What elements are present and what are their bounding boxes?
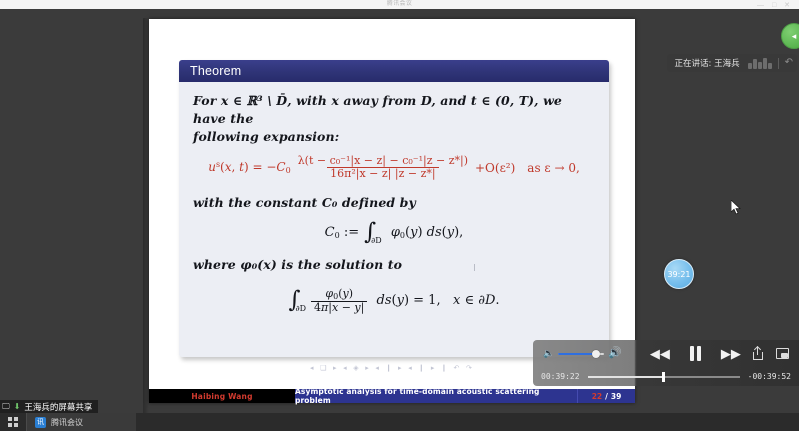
monitor-icon: 🖵 — [2, 403, 10, 411]
tencent-meeting-icon: 讯 — [35, 417, 46, 428]
constant-equation: C0 := ∫∂D φ0(y) ds(y), — [193, 224, 595, 241]
main-equation: us(x, t) = −C0 λ(t − c₀⁻¹|x − z| − c₀⁻¹|… — [193, 155, 595, 180]
integral-symbol-1: ∫∂D — [364, 224, 382, 241]
constant-line: with the constant C₀ defined by — [193, 194, 595, 212]
audio-level-icon — [748, 58, 772, 69]
window-top-strip: 腾讯会议 — □ ✕ — [0, 0, 799, 9]
pill-divider — [778, 58, 779, 69]
footer-page-separator: / — [605, 392, 608, 401]
fraction-denominator: 16π²|x − z| |z − z*| — [327, 167, 438, 180]
mouse-cursor — [731, 200, 742, 215]
player-elapsed-time: 00:39:22 — [541, 372, 580, 381]
window-title-faint: 腾讯会议 — [387, 0, 413, 9]
stray-mark — [474, 264, 475, 271]
fraction-numerator: λ(t − c₀⁻¹|x − z| − c₀⁻¹|z − z*|) — [295, 155, 471, 167]
active-speaker-label: 正在讲话: 王海兵 — [675, 57, 740, 69]
player-scrubber-handle[interactable] — [662, 372, 665, 382]
main-equation-tail: as ε → 0, — [527, 161, 579, 175]
theorem-body: For x ∈ ℝ³ \ D̄, with x away from D, and… — [179, 82, 609, 357]
integral-symbol-2: ∫∂D — [288, 292, 306, 309]
main-equation-lhs: us(x, t) = −C0 — [208, 160, 290, 175]
window-controls[interactable]: — □ ✕ — [757, 1, 793, 9]
theorem-header: Theorem — [179, 60, 609, 82]
pause-icon[interactable] — [690, 346, 701, 361]
volume-slider[interactable] — [558, 353, 604, 355]
final-equation: ∫∂D φ0(y) 4π|x − y| ds(y) = 1, x ∈ ∂D. — [193, 288, 595, 315]
footer-page-indicator: 22 / 39 — [577, 389, 635, 403]
volume-low-icon[interactable]: 🔈 — [543, 349, 554, 358]
volume-high-icon[interactable]: 🔊 — [608, 348, 622, 359]
final-fraction-numerator: φ0(y) — [322, 288, 356, 302]
volume-control[interactable]: 🔈 🔊 — [543, 348, 622, 359]
media-player-controls[interactable]: 🔈 🔊 ◀◀ ▶▶ — [533, 340, 799, 386]
player-top-row: 🔈 🔊 ◀◀ ▶▶ — [533, 340, 799, 367]
player-bottom-row: 00:39:22 -00:39:52 — [533, 367, 799, 386]
where-line: where φ₀(x) is the solution to — [193, 256, 595, 274]
active-speaker-pill[interactable]: 正在讲话: 王海兵 ↶ — [667, 54, 797, 72]
collapse-arrow-icon[interactable]: ↶ — [785, 58, 793, 68]
meeting-timer-value: 39:21 — [667, 270, 690, 279]
taskbar-item-tencent-meeting[interactable]: 讯 腾讯会议 — [26, 413, 136, 431]
taskbar: 讯 腾讯会议 — [0, 413, 799, 431]
main-equation-fraction: λ(t − c₀⁻¹|x − z| − c₀⁻¹|z − z*|) 16π²|x… — [295, 155, 471, 180]
footer-page-total: 39 — [611, 392, 621, 401]
player-remaining-time: -00:39:52 — [748, 372, 791, 381]
rewind-icon[interactable]: ◀◀ — [650, 347, 670, 360]
theorem-intro-line-1: For x ∈ ℝ³ \ D̄, with x away from D, and… — [193, 92, 595, 128]
avatar-initial: ◂ — [792, 31, 797, 42]
final-fraction-denominator: 4π|x − y| — [311, 301, 367, 314]
slide-footer: Haibing Wang Asymptotic analysis for tim… — [149, 389, 635, 403]
footer-title: Asymptotic analysis for time-domain acou… — [295, 389, 577, 403]
constant-equation-rhs: φ0(y) ds(y), — [387, 225, 464, 240]
player-right-icons — [753, 347, 789, 360]
footer-page-current: 22 — [592, 392, 602, 401]
participant-avatar-badge[interactable]: ◂ — [781, 23, 799, 49]
transport-controls: ◀◀ ▶▶ — [650, 346, 741, 361]
download-arrow-icon: ⬇ — [14, 403, 21, 411]
taskbar-item-label: 腾讯会议 — [51, 417, 83, 428]
final-equation-rhs: ds(y) = 1, x ∈ ∂D. — [372, 293, 499, 308]
screen-root: 腾讯会议 — □ ✕ Theorem For x ∈ ℝ³ \ D̄, with… — [0, 0, 799, 431]
player-scrubber[interactable] — [588, 376, 740, 378]
picture-in-picture-icon[interactable] — [776, 348, 789, 359]
fast-forward-icon[interactable]: ▶▶ — [721, 347, 741, 360]
volume-slider-fill — [558, 353, 596, 355]
screen-share-label: 王海兵的屏幕共享 — [24, 401, 92, 413]
meeting-timer-bubble[interactable]: 39:21 — [664, 259, 694, 289]
shared-screen-canvas: Theorem For x ∈ ℝ³ \ D̄, with x away fro… — [0, 9, 799, 413]
theorem-block: Theorem For x ∈ ℝ³ \ D̄, with x away fro… — [179, 60, 609, 357]
start-button[interactable] — [0, 413, 26, 431]
footer-author: Haibing Wang — [149, 389, 295, 403]
theorem-intro-line-2: following expansion: — [193, 128, 595, 146]
windows-logo-icon — [8, 417, 18, 427]
share-icon[interactable] — [753, 347, 763, 360]
final-equation-fraction: φ0(y) 4π|x − y| — [311, 288, 367, 315]
player-scrubber-progress — [588, 376, 663, 378]
screen-share-banner[interactable]: 🖵 ⬇ 王海兵的屏幕共享 — [0, 400, 98, 413]
main-equation-rhs: +O(ε²) — [475, 161, 515, 175]
constant-equation-lhs: C0 := — [325, 225, 359, 240]
volume-slider-knob[interactable] — [592, 350, 600, 358]
